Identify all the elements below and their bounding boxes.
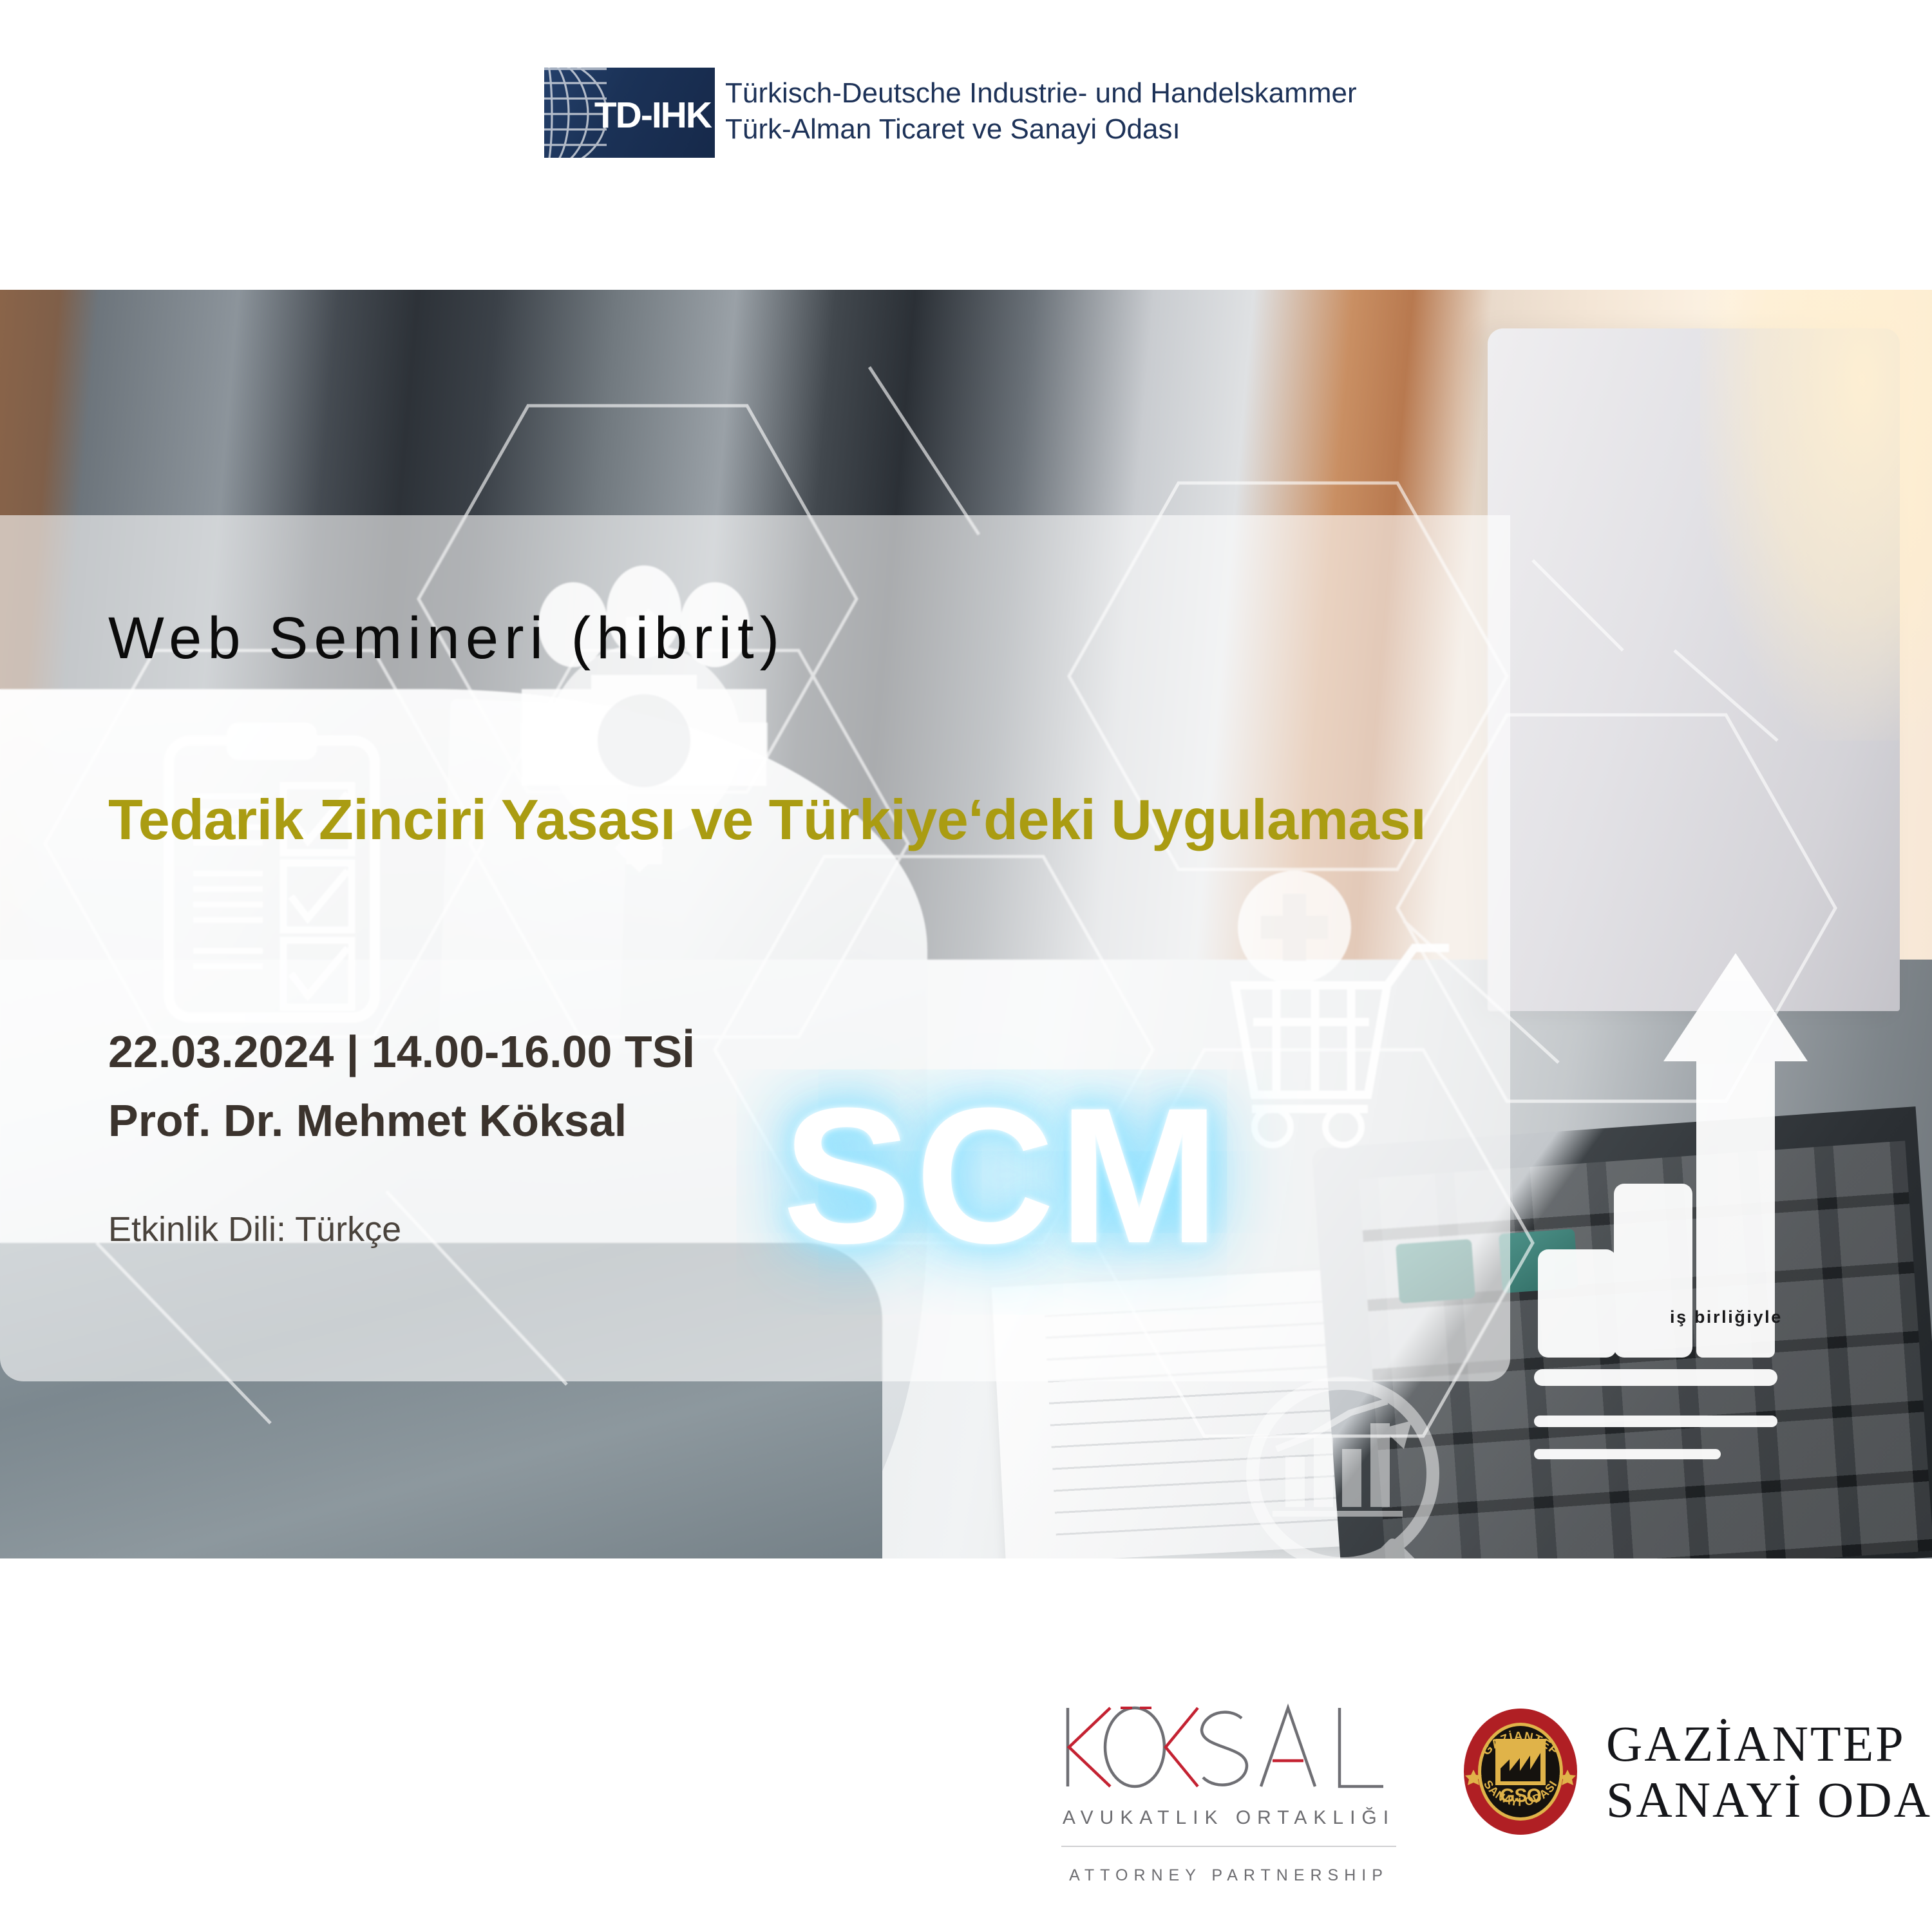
tdihk-logo: TD-IHK Türkisch-Deutsche Industrie- und … — [544, 68, 1357, 158]
koksal-logo: AVUKATLIK ORTAKLIĞI ATTORNEY PARTNERSHIP — [1048, 1699, 1409, 1885]
gso-wordmark-line1: GAZİANTEP — [1606, 1716, 1932, 1772]
tdihk-abbreviation: TD-IHK — [594, 97, 711, 134]
tdihk-name-turkish: Türk-Alman Ticaret ve Sanayi Odası — [725, 111, 1357, 147]
koksal-divider — [1061, 1846, 1396, 1847]
tdihk-logo-mark: TD-IHK — [544, 68, 715, 158]
koksal-wordmark — [1048, 1699, 1409, 1795]
collaboration-label: iş birliğiyle — [1670, 1309, 1783, 1326]
event-title: Tedarik Zinciri Yasası ve Türkiye‘deki U… — [108, 787, 1473, 853]
koksal-lettering — [1048, 1699, 1409, 1795]
event-language: Etkinlik Dili: Türkçe — [108, 1212, 401, 1247]
hero-content: Web Semineri (hibrit) Tedarik Zinciri Ya… — [0, 290, 1932, 1558]
tdihk-name-german: Türkisch-Deutsche Industrie- und Handels… — [725, 75, 1357, 111]
partner-logos-footer: AVUKATLIK ORTAKLIĞI ATTORNEY PARTNERSHIP… — [0, 1558, 1932, 1932]
gso-logo: GAZİANTEP SANAYİ ODASI GSO GAZİANTEP SAN… — [1463, 1708, 1932, 1835]
svg-text:GSO: GSO — [1500, 1785, 1541, 1806]
gso-wordmark: GAZİANTEP SANAYİ ODASI — [1606, 1716, 1932, 1828]
event-datetime: 22.03.2024 | 14.00-16.00 TSİ — [108, 1029, 695, 1074]
koksal-subtitle-tr: AVUKATLIK ORTAKLIĞI — [1048, 1807, 1409, 1829]
koksal-subtitle-en: ATTORNEY PARTNERSHIP — [1048, 1866, 1409, 1885]
gso-wordmark-line2: SANAYİ ODASI — [1606, 1772, 1932, 1828]
event-speaker: Prof. Dr. Mehmet Köksal — [108, 1098, 627, 1143]
tdihk-logo-text: Türkisch-Deutsche Industrie- und Handels… — [715, 68, 1357, 147]
gso-seal-icon: GAZİANTEP SANAYİ ODASI GSO — [1463, 1708, 1578, 1835]
page-header: TD-IHK Türkisch-Deutsche Industrie- und … — [0, 0, 1932, 290]
event-format-kicker: Web Semineri (hibrit) — [108, 609, 785, 668]
